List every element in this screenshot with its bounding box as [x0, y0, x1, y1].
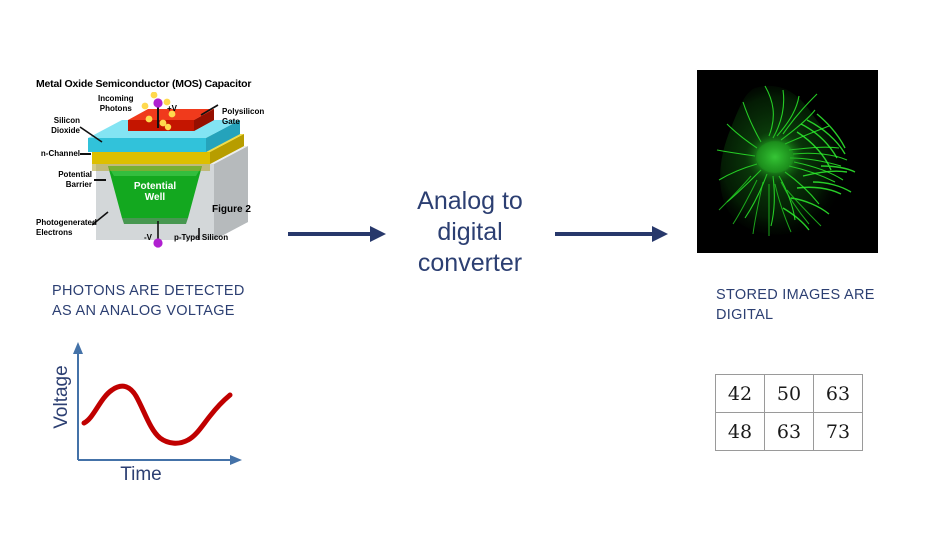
analog-voltage-chart: Voltage Time: [34, 338, 249, 493]
arrow-sensor-to-converter: [288, 222, 388, 246]
table-row: 48 63 73: [716, 413, 863, 451]
label-figure-number: Figure 2: [212, 205, 251, 215]
slide-canvas: Metal Oxide Semiconductor (MOS) Capacito…: [0, 0, 932, 538]
left-caption: PHOTONS ARE DETECTED AS AN ANALOG VOLTAG…: [52, 281, 282, 321]
table-cell: 73: [814, 413, 863, 451]
mos-figure-title: Metal Oxide Semiconductor (MOS) Capacito…: [36, 78, 276, 90]
label-positive-voltage: +V: [167, 104, 177, 114]
digital-pixel-table: 42 50 63 48 63 73: [715, 374, 863, 451]
table-cell: 50: [765, 375, 814, 413]
label-potential-barrier: Potential Barrier: [36, 170, 92, 189]
cell-cytoskeleton-graphic: [697, 70, 878, 253]
label-silicon-dioxide: Silicon Dioxide: [36, 116, 80, 135]
table-cell: 63: [765, 413, 814, 451]
svg-text:Potential: Potential: [134, 181, 176, 192]
label-p-type-silicon: p-Type Silicon: [174, 233, 228, 243]
table-cell: 42: [716, 375, 765, 413]
label-negative-voltage: -V: [144, 233, 152, 243]
converter-label: Analog to digital converter: [386, 186, 554, 279]
chart-x-axis-label: Time: [86, 464, 196, 486]
label-incoming-photons: Incoming Photons: [98, 94, 134, 113]
table-row: 42 50 63: [716, 375, 863, 413]
label-photogenerated-electrons: Photogenerated Electrons: [36, 218, 110, 237]
arrow-converter-to-storage: [555, 222, 670, 246]
digital-table-body: 42 50 63 48 63 73: [716, 375, 863, 451]
mos-capacitor-figure: Metal Oxide Semiconductor (MOS) Capacito…: [36, 78, 276, 250]
svg-text:Well: Well: [145, 192, 166, 203]
label-n-channel: n-Channel: [36, 149, 80, 159]
table-cell: 48: [716, 413, 765, 451]
chart-y-axis-label: Voltage: [51, 349, 73, 445]
label-polysilicon-gate: Polysilicon Gate: [222, 107, 264, 126]
fluorescence-cell-image: [697, 70, 878, 253]
right-caption: STORED IMAGES ARE DIGITAL: [716, 285, 916, 325]
table-cell: 63: [814, 375, 863, 413]
